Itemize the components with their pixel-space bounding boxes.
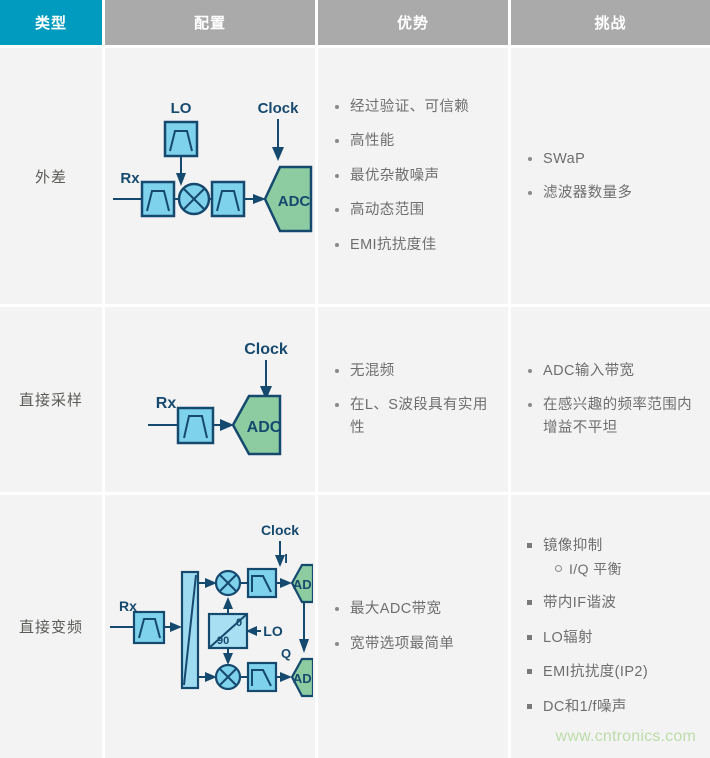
list-item: LO辐射 bbox=[543, 627, 704, 649]
clock-label: Clock bbox=[257, 100, 299, 117]
header-label-challenges: 挑战 bbox=[594, 12, 626, 33]
list-item: 镜像抑制 I/Q 平衡 bbox=[543, 535, 704, 580]
heterodyne-receiver-diagram: LO Clock Rx bbox=[105, 48, 318, 307]
row-type-direct-sampling: 直接采样 bbox=[0, 307, 105, 495]
header-label-configuration: 配置 bbox=[194, 12, 226, 33]
heterodyne-advantages-cell: 经过验证、可信赖 高性能 最优杂散噪声 高动态范围 EMI抗扰度佳 bbox=[318, 48, 511, 307]
table-header-type: 类型 bbox=[0, 0, 105, 48]
list-item: EMI抗扰度(IP2) bbox=[543, 661, 704, 683]
q-label: Q bbox=[280, 646, 290, 661]
list-item: 最大ADC带宽 bbox=[350, 598, 502, 620]
type-label: 直接采样 bbox=[19, 389, 83, 410]
lo-label: LO bbox=[263, 623, 283, 639]
list-item-text: 镜像抑制 bbox=[543, 538, 603, 554]
adc-label: ADC bbox=[246, 419, 281, 436]
clock-label: Clock bbox=[244, 341, 288, 358]
table-header-configuration: 配置 bbox=[105, 0, 318, 48]
direct-sampling-advantages-cell: 无混频 在L、S波段具有实用性 bbox=[318, 307, 511, 495]
heterodyne-challenges-cell: SWaP 滤波器数量多 bbox=[511, 48, 710, 307]
phase-90-label: 90 bbox=[217, 635, 229, 647]
challenges-list: ADC输入带宽 在感兴趣的频率范围内增益不平坦 bbox=[521, 360, 704, 439]
list-item: 滤波器数量多 bbox=[543, 182, 704, 204]
sub-list-item: I/Q 平衡 bbox=[569, 559, 704, 580]
clock-label: Clock bbox=[260, 522, 298, 538]
phase-0-label: 0 bbox=[236, 617, 242, 629]
direct-sampling-challenges-cell: ADC输入带宽 在感兴趣的频率范围内增益不平坦 bbox=[511, 307, 710, 495]
header-label-advantages: 优势 bbox=[397, 12, 429, 33]
lo-label: LO bbox=[170, 100, 191, 117]
adc-label: ADC bbox=[292, 577, 312, 592]
list-item: 在感兴趣的频率范围内增益不平坦 bbox=[543, 394, 704, 439]
i-label: I bbox=[284, 551, 288, 566]
list-item: 最优杂散噪声 bbox=[350, 165, 502, 187]
list-item: ADC输入带宽 bbox=[543, 360, 704, 382]
bandpass-filter-block bbox=[134, 612, 164, 643]
table-header-challenges: 挑战 bbox=[511, 0, 710, 48]
row-type-direct-conversion: 直接变频 bbox=[0, 495, 105, 758]
list-item: SWaP bbox=[543, 148, 704, 170]
table-header-advantages: 优势 bbox=[318, 0, 511, 48]
type-label: 直接变频 bbox=[19, 616, 83, 637]
list-item: 高动态范围 bbox=[350, 199, 502, 221]
challenges-list: 镜像抑制 I/Q 平衡 带内IF谐波 LO辐射 EMI抗扰度(IP2) DC和1… bbox=[521, 535, 704, 718]
list-item: 经过验证、可信赖 bbox=[350, 96, 502, 118]
rx-label: Rx bbox=[155, 395, 176, 412]
challenges-list: SWaP 滤波器数量多 bbox=[521, 148, 704, 205]
direct-conversion-challenges-cell: 镜像抑制 I/Q 平衡 带内IF谐波 LO辐射 EMI抗扰度(IP2) DC和1… bbox=[511, 495, 710, 758]
list-item: EMI抗扰度佳 bbox=[350, 234, 502, 256]
row-type-heterodyne: 外差 bbox=[0, 48, 105, 307]
list-item: 高性能 bbox=[350, 130, 502, 152]
list-item: 带内IF谐波 bbox=[543, 592, 704, 614]
header-label-type: 类型 bbox=[35, 12, 67, 33]
type-label: 外差 bbox=[35, 166, 67, 187]
comparison-table: 类型 配置 优势 挑战 外差 LO Clock Rx bbox=[0, 0, 710, 758]
direct-conversion-receiver-diagram: Clock Rx bbox=[105, 495, 318, 758]
list-item: 在L、S波段具有实用性 bbox=[350, 394, 502, 439]
watermark: www.cntronics.com bbox=[556, 728, 696, 746]
list-item: 无混频 bbox=[350, 360, 502, 382]
direct-conversion-advantages-cell: 最大ADC带宽 宽带选项最简单 bbox=[318, 495, 511, 758]
sub-list: I/Q 平衡 bbox=[543, 559, 704, 580]
adc-label: ADC bbox=[292, 671, 312, 686]
direct-sampling-receiver-diagram: Clock Rx ADC bbox=[105, 307, 318, 495]
advantages-list: 最大ADC带宽 宽带选项最简单 bbox=[328, 598, 502, 655]
advantages-list: 无混频 在L、S波段具有实用性 bbox=[328, 360, 502, 439]
adc-label: ADC bbox=[277, 193, 310, 210]
advantages-list: 经过验证、可信赖 高性能 最优杂散噪声 高动态范围 EMI抗扰度佳 bbox=[328, 96, 502, 256]
list-item: DC和1/f噪声 bbox=[543, 696, 704, 718]
rx-label: Rx bbox=[120, 170, 140, 187]
list-item: 宽带选项最简单 bbox=[350, 633, 502, 655]
